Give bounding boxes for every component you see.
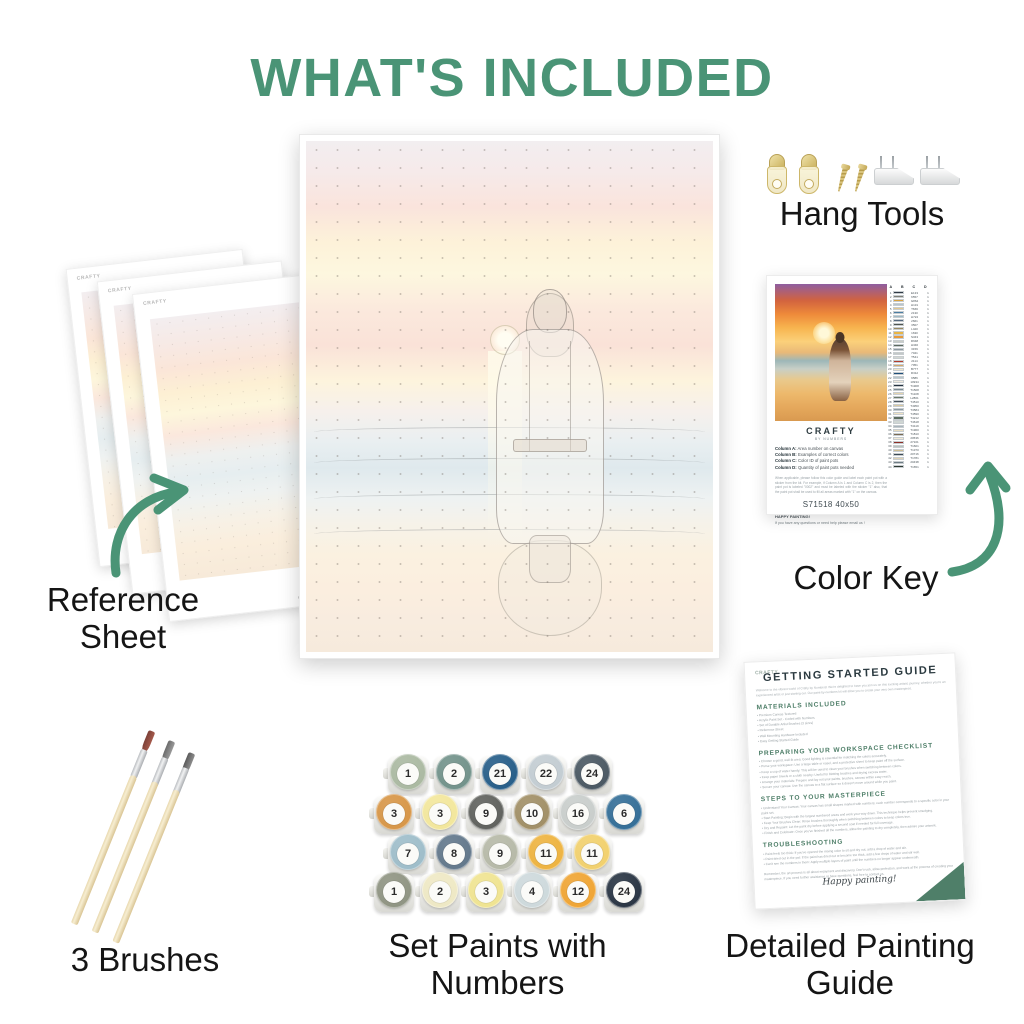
color-swatch	[893, 331, 904, 334]
guide-label-line2: Guide	[690, 965, 1010, 1002]
paint-pot: 1	[386, 752, 430, 796]
color-swatch	[893, 315, 904, 318]
paint-pot-number: 9	[475, 803, 497, 825]
header-d: D	[920, 285, 932, 289]
paint-pot-number: 10	[521, 803, 543, 825]
color-key-sku-code: S71518 40x50	[775, 500, 887, 509]
color-key-label: Color Key	[760, 560, 972, 597]
wave-line	[314, 494, 705, 504]
color-key-column-legend: Column A: Area number on canvas Column B…	[775, 446, 887, 471]
brass-hook-icon	[798, 154, 820, 196]
color-swatch	[893, 429, 904, 432]
legend-desc: Area number on canvas	[798, 446, 844, 451]
hang-tools-label: Hang Tools	[752, 196, 972, 233]
color-swatch	[893, 465, 904, 468]
color-swatch	[893, 372, 904, 375]
paint-pot: 1	[372, 870, 416, 914]
swatch-row: 44T16511	[885, 465, 931, 469]
paint-pot-number: 12	[567, 881, 589, 903]
legend-key: Column C:	[775, 458, 797, 463]
paint-pot: 24	[602, 870, 646, 914]
color-key-happy-text: HAPPY PAINTING!	[775, 514, 887, 519]
paint-pot-number: 11	[535, 843, 557, 865]
color-key-preview-image	[775, 284, 887, 421]
color-swatch	[893, 291, 904, 294]
color-swatch	[893, 380, 904, 383]
figure-sash	[513, 439, 587, 452]
reference-sheet-label-line2: Sheet	[8, 619, 238, 656]
paint-pots-grid: 1221222433910166789111112341224	[372, 752, 624, 912]
color-swatch	[893, 437, 904, 440]
paint-pot-number: 22	[535, 763, 557, 785]
paint-pot-number: 1	[383, 881, 405, 903]
color-swatch	[893, 368, 904, 371]
paint-pot: 6	[602, 792, 646, 836]
paint-pot: 3	[418, 792, 462, 836]
preview-figure	[829, 339, 851, 401]
paint-pot-number: 7	[397, 843, 419, 865]
paint-pot: 3	[464, 870, 508, 914]
paints-label-line1: Set Paints with	[330, 928, 665, 965]
painting-guide-document: CRAFTY GETTING STARTED GUIDE Welcome to …	[743, 652, 966, 909]
color-swatch	[893, 449, 904, 452]
paint-pot-number: 4	[521, 881, 543, 903]
guide-label: Detailed Painting Guide	[690, 928, 1010, 1002]
color-swatch	[893, 453, 904, 456]
color-swatch	[893, 299, 904, 302]
page-title: WHAT'S INCLUDED	[0, 47, 1024, 109]
header-b: B	[897, 285, 909, 289]
wave-line	[314, 427, 705, 437]
legend-key: Column D:	[775, 465, 797, 470]
color-swatch	[893, 323, 904, 326]
color-swatch	[893, 408, 904, 411]
color-swatch	[893, 392, 904, 395]
figure-head	[533, 289, 567, 333]
color-swatch	[893, 445, 904, 448]
color-swatch	[893, 441, 904, 444]
legend-key: Column B:	[775, 452, 797, 457]
preview-figure-head	[835, 332, 844, 343]
paint-pot-number: 3	[475, 881, 497, 903]
color-key-brand: CRAFTY	[775, 426, 887, 436]
color-swatch	[893, 388, 904, 391]
guide-sections: MATERIALS INCLUDED• Premium Canvas Textu…	[756, 695, 954, 882]
color-swatch	[893, 457, 904, 460]
paints-label-line2: Numbers	[330, 965, 665, 1002]
reference-sheet-watermark: CRAFTY	[108, 286, 132, 295]
legend-key: Column A:	[775, 446, 797, 451]
color-swatch	[893, 404, 904, 407]
swatch-quantity: 1	[925, 465, 931, 469]
color-swatch	[893, 295, 904, 298]
paint-pot-number: 16	[567, 803, 589, 825]
swatch-row-list: 1E13312655713G86414H13115T66616213017H72…	[885, 291, 931, 469]
paint-pot-number: 8	[443, 843, 465, 865]
color-swatch	[893, 412, 904, 415]
paint-pot: 2	[432, 752, 476, 796]
paint-pot-row: 12212224	[386, 752, 616, 796]
paint-pot-number: 24	[581, 763, 603, 785]
paint-pot: 3	[372, 792, 416, 836]
reference-sheet-label: Reference Sheet	[8, 582, 238, 656]
paint-pot: 22	[524, 752, 568, 796]
color-swatch	[893, 364, 904, 367]
paint-pot-number: 9	[489, 843, 511, 865]
reference-sheet-label-line1: Reference	[8, 582, 238, 619]
paint-pot-number: 3	[429, 803, 451, 825]
paint-pot-row: 12341224	[372, 870, 648, 914]
paint-pot: 21	[478, 752, 522, 796]
color-swatch	[893, 307, 904, 310]
color-swatch	[893, 425, 904, 428]
color-swatch	[893, 416, 904, 419]
paint-pot: 10	[510, 792, 554, 836]
color-swatch	[893, 335, 904, 338]
sun-reflection-path	[488, 351, 522, 551]
paint-pot: 12	[556, 870, 600, 914]
header-a: A	[885, 285, 897, 289]
canvas-artwork-outline	[306, 141, 713, 652]
reference-sheet-watermark: CRAFTY	[143, 298, 167, 307]
color-swatch	[893, 360, 904, 363]
header-c: C	[908, 285, 920, 289]
color-swatch	[893, 344, 904, 347]
color-swatch	[893, 348, 904, 351]
paint-brush-icon	[112, 752, 189, 942]
legend-desc: Examples of correct colors	[798, 452, 849, 457]
swatch-area-number: 44	[885, 465, 893, 469]
color-swatch	[893, 396, 904, 399]
color-swatch	[893, 327, 904, 330]
figure-reflection	[498, 540, 602, 636]
main-canvas	[299, 134, 720, 659]
infographic-root: WHAT'S INCLUDED CRAFTY CRAFTY CRAFTY CRA…	[0, 0, 1024, 1024]
paint-pot: 2	[418, 870, 462, 914]
paint-pot-number: 6	[613, 803, 635, 825]
gold-screw-icon	[834, 163, 850, 192]
swatch-table-header: A B C D	[885, 285, 931, 289]
color-swatch	[893, 461, 904, 464]
color-swatch	[893, 303, 904, 306]
brushes-group	[60, 690, 290, 925]
figure-legs	[529, 535, 571, 583]
color-swatch	[893, 319, 904, 322]
color-swatch	[893, 400, 904, 403]
brass-hook-icon	[766, 154, 788, 196]
wall-anchor-icon	[920, 158, 960, 192]
paint-pot-number: 3	[383, 803, 405, 825]
paint-pot: 16	[556, 792, 600, 836]
color-swatch	[893, 352, 904, 355]
color-swatch	[893, 356, 904, 359]
arrow-to-reference-sheet	[104, 470, 199, 580]
legend-desc: Quantity of paint pots needed	[798, 465, 854, 470]
wall-anchor-icon	[874, 158, 914, 192]
wave-line	[314, 458, 705, 468]
legend-line: Column D: Quantity of paint pots needed	[775, 465, 887, 471]
color-key-swatch-table: A B C D 1E13312655713G86414H13115T666162…	[885, 285, 931, 469]
paint-pot: 9	[464, 792, 508, 836]
figure-hair	[526, 293, 574, 357]
figure-outline	[490, 289, 610, 589]
figure-inner-garment	[529, 341, 571, 451]
color-swatch	[893, 433, 904, 436]
paint-pot-number: 2	[443, 763, 465, 785]
paint-pot-number: 11	[581, 843, 603, 865]
paint-pot-number: 24	[613, 881, 635, 903]
wave-line	[314, 529, 705, 539]
gold-screw-icon	[851, 163, 867, 192]
color-key-brand-sub: BY NUMBERS	[775, 437, 887, 441]
guide-label-line1: Detailed Painting	[690, 928, 1010, 965]
color-swatch	[893, 311, 904, 314]
paint-pot-number: 1	[397, 763, 419, 785]
color-swatch	[893, 384, 904, 387]
paints-label: Set Paints with Numbers	[330, 928, 665, 1002]
legend-desc: Color ID of paint pots	[798, 458, 838, 463]
color-swatch	[893, 420, 904, 423]
paint-pot-number: 21	[489, 763, 511, 785]
color-swatch	[893, 376, 904, 379]
sun-icon	[490, 325, 520, 355]
color-swatch	[893, 340, 904, 343]
paint-pot: 24	[570, 752, 614, 796]
brushes-label: 3 Brushes	[20, 942, 270, 979]
preview-sun-icon	[813, 322, 835, 344]
figure-robe	[496, 329, 604, 544]
color-key-contact-text: If you have any questions or need help p…	[775, 521, 887, 525]
paint-pot: 4	[510, 870, 554, 914]
color-key-card: CRAFTY BY NUMBERS Column A: Area number …	[766, 275, 938, 515]
paint-pot-number: 2	[429, 881, 451, 903]
color-key-left-column: CRAFTY BY NUMBERS Column A: Area number …	[775, 284, 887, 525]
color-key-note: When applicable, please follow this colo…	[775, 476, 887, 495]
paint-pot-row: 33910166	[372, 792, 648, 836]
swatch-color-id: T1651	[904, 465, 925, 469]
